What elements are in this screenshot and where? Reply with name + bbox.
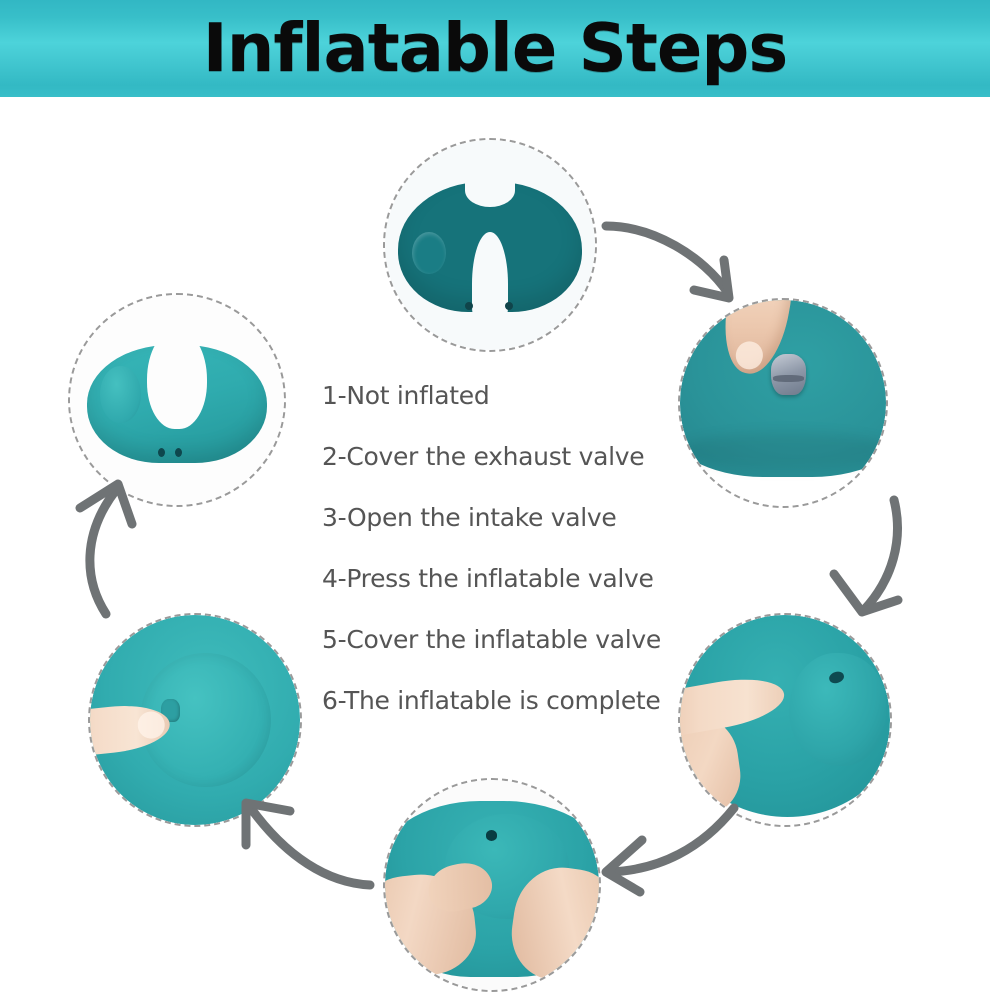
step-line-1: 1-Not inflated — [322, 383, 682, 408]
step-line-2: 2-Cover the exhaust valve — [322, 444, 682, 469]
arrow-step4-to-step5-icon — [228, 785, 378, 900]
photo-open-intake-valve — [680, 615, 890, 825]
fingernail — [734, 339, 766, 371]
arrow-step3-to-step4-icon — [592, 800, 742, 900]
fingernail — [137, 711, 166, 740]
pillow-bulge — [789, 653, 886, 766]
arrow-step2-to-step3-icon — [812, 492, 932, 627]
page-title: Inflatable Steps — [203, 15, 787, 82]
infographic-page: Inflatable Steps — [0, 0, 990, 964]
step-line-4: 4-Press the inflatable valve — [322, 566, 682, 591]
photo-press-inflatable-valve — [385, 780, 599, 990]
step-line-3: 3-Open the intake valve — [322, 505, 682, 530]
valve-nub-icon — [465, 302, 473, 310]
step-photo-4-press-inflatable-valve — [383, 778, 601, 992]
valve-nub-icon — [505, 302, 513, 310]
valve-nub-icon — [158, 448, 165, 457]
step-photo-3-open-intake-valve — [678, 613, 892, 827]
step-photo-2-cover-exhaust-valve — [678, 298, 888, 508]
pillow-top-dip — [465, 174, 515, 208]
inflatable-valve-pad — [412, 232, 446, 274]
inflatable-valve-pad — [100, 366, 141, 423]
step-line-6: 6-The inflatable is complete — [322, 688, 682, 713]
photo-deflated-pillow — [385, 140, 595, 350]
title-banner: Inflatable Steps — [0, 0, 990, 97]
step-photo-1-not-inflated — [383, 138, 597, 352]
steps-list: 1-Not inflated 2-Cover the exhaust valve… — [322, 383, 682, 713]
step-line-5: 5-Cover the inflatable valve — [322, 627, 682, 652]
intake-valve-hole — [486, 830, 498, 841]
pillow-neck-slot — [147, 329, 207, 430]
arrow-step5-to-step6-icon — [58, 472, 178, 622]
exhaust-valve — [771, 354, 806, 395]
arrow-step1-to-step2-icon — [598, 208, 768, 318]
photo-cover-exhaust-valve — [680, 300, 886, 506]
